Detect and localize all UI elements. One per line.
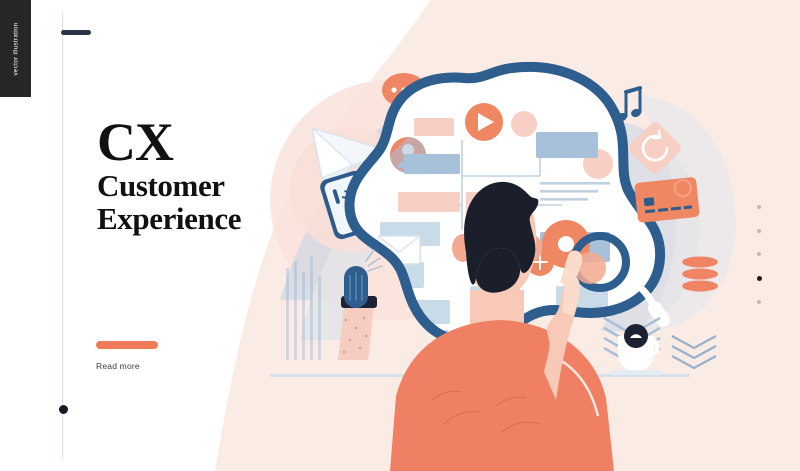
node-circle [511, 111, 537, 137]
vector-illustration-label: vector illustration [12, 22, 19, 75]
music-note-icon [616, 88, 642, 122]
left-rail-line [62, 12, 63, 459]
title-acronym: CX [97, 118, 241, 168]
chevron-pattern [672, 336, 716, 368]
left-rail-dash [61, 30, 91, 35]
pagination-dot-3[interactable] [757, 252, 761, 256]
credit-card-icon [634, 177, 700, 223]
pagination-dot-1[interactable] [757, 205, 761, 209]
play-button-icon [465, 103, 503, 141]
read-more-link[interactable]: Read more [96, 361, 140, 371]
pagination-dot-4[interactable] [757, 276, 762, 281]
title-line-1: Customer [97, 170, 241, 202]
page-title: CX Customer Experience [97, 118, 241, 235]
read-more-accent-bar [96, 341, 158, 349]
left-rail-dot [59, 405, 68, 414]
illustration-slide: vector illustration CX Customer Experien… [0, 0, 800, 471]
title-line-2: Experience [97, 203, 241, 235]
vector-illustration-tag: vector illustration [0, 0, 31, 97]
pagination-dots[interactable] [757, 205, 762, 324]
pagination-dot-2[interactable] [757, 229, 761, 233]
stacked-discs-icon [682, 257, 718, 292]
pagination-dot-5[interactable] [757, 300, 761, 304]
